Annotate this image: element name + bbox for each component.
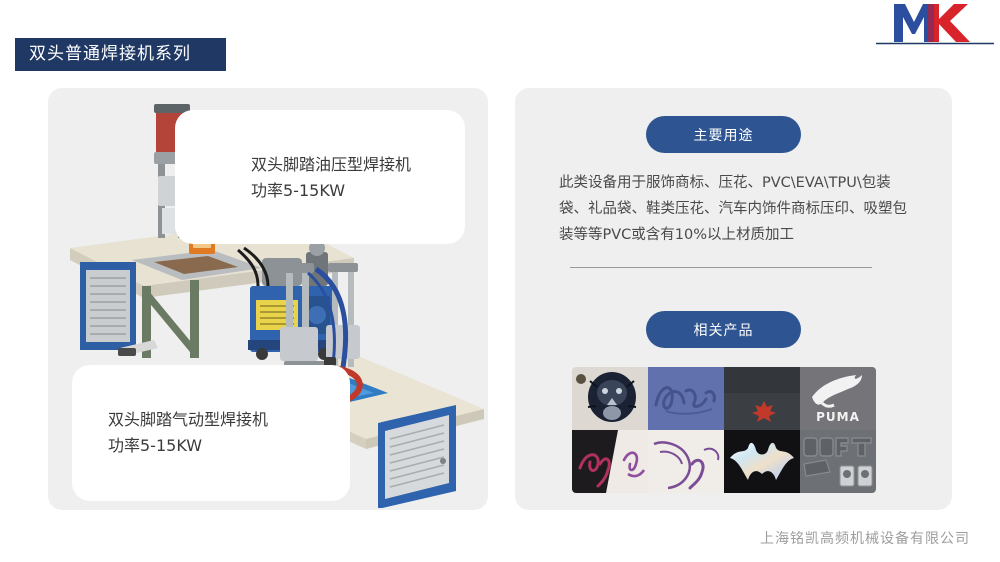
machine-name-pneumatic: 双头脚踏气动型焊接机 bbox=[108, 407, 268, 433]
logo-letter-k bbox=[928, 4, 970, 42]
section-title-bar: 双头普通焊接机系列 bbox=[15, 38, 226, 71]
machine-label-pneumatic: 双头脚踏气动型焊接机 功率5-15KW bbox=[108, 407, 268, 459]
gallery-item-odit-lettering[interactable] bbox=[800, 430, 876, 493]
gallery-item-calligraphy-logo[interactable] bbox=[648, 430, 724, 493]
section-divider bbox=[570, 267, 872, 268]
machine-label-card-hydraulic: 双头脚踏油压型焊接机 功率5-15KW bbox=[175, 110, 465, 244]
gallery-item-batman-emblem[interactable] bbox=[724, 430, 800, 493]
gallery-item-callaway-script-dark[interactable] bbox=[572, 430, 648, 493]
section-title-text: 双头普通焊接机系列 bbox=[15, 46, 191, 63]
related-products-heading-text: 相关产品 bbox=[694, 320, 754, 340]
machine-power-pneumatic: 功率5-15KW bbox=[108, 433, 268, 459]
related-products-heading-pill: 相关产品 bbox=[646, 311, 801, 348]
machine-power-hydraulic: 功率5-15KW bbox=[251, 178, 411, 204]
related-products-gallery: PUMA bbox=[572, 367, 876, 493]
usage-heading-pill: 主要用途 bbox=[646, 116, 801, 153]
machine-label-hydraulic: 双头脚踏油压型焊接机 功率5-15KW bbox=[251, 152, 411, 204]
company-footer: 上海铭凯高频机械设备有限公司 bbox=[760, 528, 970, 548]
company-logo bbox=[876, 0, 994, 46]
usage-description: 此类设备用于服饰商标、压花、PVC\EVA\TPU\包装袋、礼品袋、鞋类压花、汽… bbox=[559, 170, 907, 248]
machine-name-hydraulic: 双头脚踏油压型焊接机 bbox=[251, 152, 411, 178]
gallery-item-tiger-patch[interactable] bbox=[572, 367, 648, 430]
info-panel: 主要用途 此类设备用于服饰商标、压花、PVC\EVA\TPU\包装袋、礼品袋、鞋… bbox=[515, 88, 952, 510]
machine-label-card-pneumatic: 双头脚踏气动型焊接机 功率5-15KW bbox=[72, 365, 350, 501]
svg-text:PUMA: PUMA bbox=[816, 410, 860, 424]
usage-heading-text: 主要用途 bbox=[694, 125, 754, 145]
machines-panel: 双头脚踏油压型焊接机 功率5-15KW 双头脚踏气动型焊接机 功率5-15KW bbox=[48, 88, 488, 510]
gallery-item-maple-leaf-patch[interactable] bbox=[724, 367, 800, 430]
gallery-item-cynthia-script[interactable] bbox=[648, 367, 724, 430]
gallery-item-puma-logo[interactable]: PUMA bbox=[800, 367, 876, 430]
